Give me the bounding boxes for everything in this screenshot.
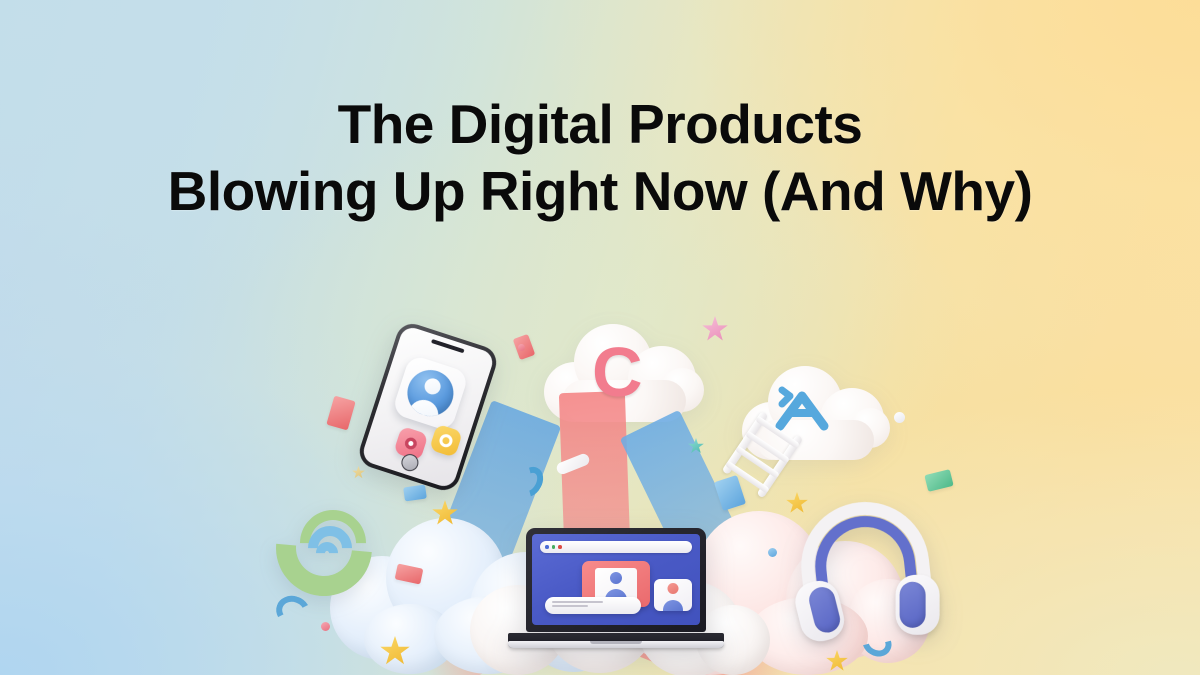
confetti-star-pink [702,316,728,342]
mini-profile-card[interactable] [654,579,692,611]
browser-dot-red [558,545,562,549]
phone-earpiece [431,339,465,353]
laptop-device [508,528,724,668]
confetti-rect-blue [403,485,427,502]
confetti-rect-pink [326,396,355,431]
browser-dot-green [552,545,556,549]
call-handset-icon [256,480,391,615]
video-avatar-frame [595,568,637,601]
confetti-rect-green [924,469,953,492]
confetti-dot-blue [768,548,777,557]
user-avatar-icon [401,364,459,422]
headphone-earcup-right [896,575,940,635]
headphones-device [789,491,944,655]
laptop-screen [532,534,700,625]
confetti-dot-pink [518,344,525,351]
cloud-letter-c-glyph: C [592,337,643,407]
confetti-dot-pink [321,622,330,631]
profile-app-card[interactable] [391,354,469,432]
laptop-lid [526,528,706,632]
contacts-app-icon[interactable] [429,424,463,458]
screen-search-bar[interactable] [545,597,641,614]
hero-illustration: C [0,0,1200,675]
laptop-base-deck [508,641,724,648]
confetti-star-cream [352,466,365,479]
browser-address-bar[interactable] [540,541,692,553]
confetti-dot-white [894,412,905,423]
browser-dot-blue [545,545,549,549]
laptop-keyboard [508,633,724,648]
